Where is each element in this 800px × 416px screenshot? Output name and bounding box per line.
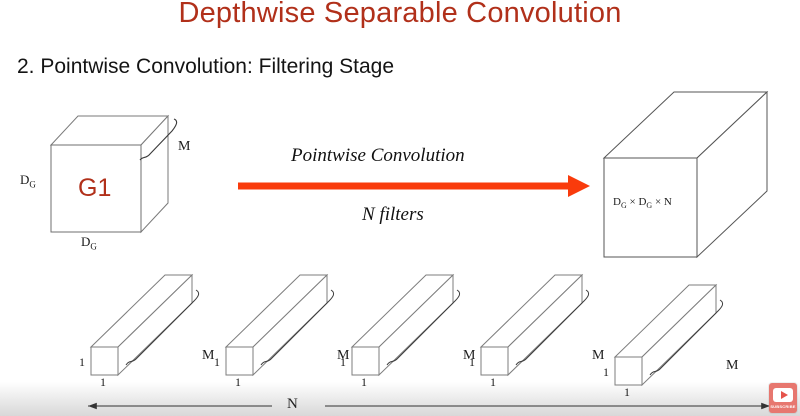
- filter-4-depth-label: M: [592, 348, 604, 364]
- filter-2-height-label: 1: [214, 355, 220, 370]
- operation-caption-top: Pointwise Convolution: [291, 145, 465, 167]
- filter-bar: [352, 275, 453, 375]
- filter-bar: [91, 275, 192, 375]
- filter-5-width-label: 1: [624, 385, 630, 400]
- filter-5-height-label: 1: [603, 365, 609, 380]
- pointwise-convolution-arrow: [238, 175, 590, 197]
- filter-1-height-label: 1: [79, 355, 85, 370]
- output-volume-cuboid: [604, 92, 767, 257]
- filter-3-height-label: 1: [340, 355, 346, 370]
- filter-bar: [615, 285, 716, 385]
- youtube-subscribe-badge[interactable]: SUBSCRIBE: [769, 383, 797, 413]
- input-width-label: DG: [81, 234, 97, 252]
- filter-4-height-label: 1: [469, 355, 475, 370]
- input-height-label: DG: [20, 172, 36, 190]
- input-volume-face-label: G1: [78, 174, 111, 203]
- output-volume-label: DG × DG × N: [613, 196, 672, 210]
- filter-1-depth-label: M: [202, 348, 214, 364]
- input-depth-label: M: [178, 139, 190, 155]
- filter-2-width-label: 1: [235, 375, 241, 390]
- filter-1-width-label: 1: [100, 375, 106, 390]
- filter-4-width-label: 1: [490, 375, 496, 390]
- subscribe-label: SUBSCRIBE: [770, 404, 795, 409]
- filter-bar: [226, 275, 327, 375]
- operation-caption-bottom: N filters: [362, 204, 424, 226]
- filter-bar: [481, 275, 582, 375]
- filter-5-depth-label: M: [726, 358, 738, 374]
- filter-3-width-label: 1: [361, 375, 367, 390]
- filter-bar-group: [91, 275, 716, 385]
- youtube-play-icon: [773, 388, 793, 402]
- filter-count-label: N: [287, 396, 298, 413]
